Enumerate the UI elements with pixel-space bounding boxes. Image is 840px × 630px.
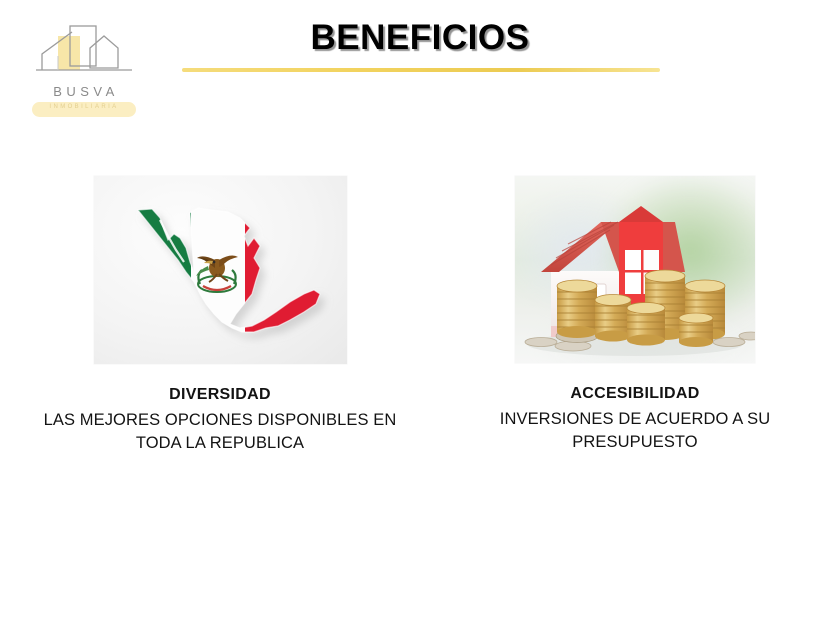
benefit-description: INVERSIONES DE ACUERDO A SU PRESUPUESTO — [450, 408, 820, 455]
company-logo: BUSVA INMOBILIARIA — [28, 22, 140, 120]
building-outline-icon — [28, 22, 140, 84]
benefit-heading: DIVERSIDAD — [20, 386, 420, 404]
benefit-column-diversidad: DIVERSIDAD LAS MEJORES OPCIONES DISPONIB… — [20, 176, 420, 456]
page-title: BENEFICIOS — [170, 18, 670, 58]
title-underline-rule — [182, 68, 660, 72]
benefit-heading: ACCESIBILIDAD — [450, 385, 820, 403]
logo-tagline-pill: INMOBILIARIA — [32, 102, 136, 117]
mexico-map-flag-image — [94, 176, 347, 364]
house-with-coins-image — [515, 176, 755, 363]
benefit-column-accesibilidad: ACCESIBILIDAD INVERSIONES DE ACUERDO A S… — [450, 176, 820, 455]
logo-wordmark: BUSVA — [28, 84, 140, 99]
slide-canvas: BUSVA INMOBILIARIA BENEFICIOS — [0, 0, 840, 630]
benefit-description: LAS MEJORES OPCIONES DISPONIBLES EN TODA… — [20, 409, 420, 456]
logo-tagline: INMOBILIARIA — [32, 104, 136, 110]
